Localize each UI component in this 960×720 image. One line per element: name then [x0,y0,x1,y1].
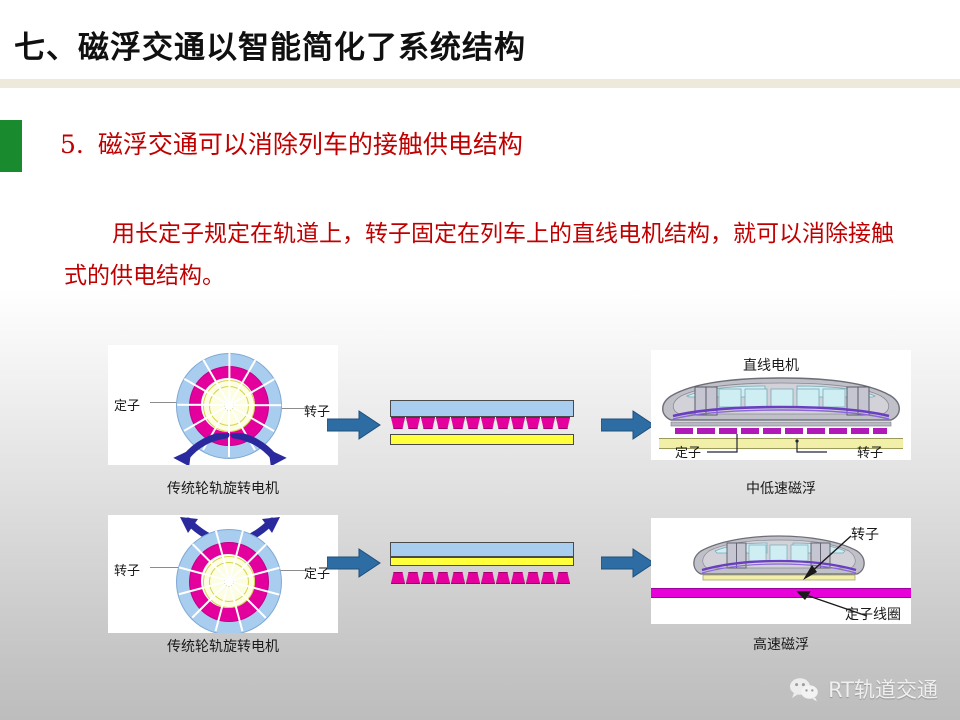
magnet-tooth [466,417,480,429]
magnet-tooth [556,572,570,584]
magnet-tooth [391,417,405,429]
label-stator: 定子 [675,442,701,460]
caption-row1-train: 中低速磁浮 [651,478,911,498]
rotor-plate-bar [390,434,574,445]
magnet-tooth [511,417,525,429]
slot-divider [229,404,281,406]
label-stator-coil: 定子线圈 [845,604,901,624]
magnet-tooth [541,417,555,429]
rotary-motor-panel-2: 转子 定子 [108,515,338,633]
magnet-tooth [511,572,525,584]
figure-row2-linear [390,542,574,588]
magnet-tooth [556,417,570,429]
magnet-tooth [436,572,450,584]
magnet-tooth [436,417,450,429]
header-divider [0,79,960,88]
watermark: RT轨道交通 [789,674,938,704]
magnet-tooth [451,572,465,584]
label-rotor: 转子 [851,524,879,544]
magnet-tooth [451,417,465,429]
section-accent-bar [0,120,22,172]
label-linear-motor: 直线电机 [743,355,799,375]
magnet-tooth [496,417,510,429]
slot-divider [228,353,230,405]
rotor-plate-bar [390,557,574,566]
maglev-train-panel-2: 转子 定子线圈 [651,518,911,624]
slide-root: 七、磁浮交通以智能简化了系统结构 5.磁浮交通可以消除列车的接触供电结构 用长定… [0,0,960,720]
magnet-tooth [496,572,510,584]
caption-row2-train: 高速磁浮 [651,634,911,654]
label-rotor: 转子 [857,442,883,460]
flow-arrow-icon [327,548,381,578]
magnet-tooth [541,572,555,584]
rotor-core-bar [390,542,574,557]
label-rotor-left: 转子 [114,560,140,579]
label-stator-left: 定子 [114,395,140,414]
rotary-motor-panel-1: 定子 转子 [108,345,338,465]
magnet-tooth [406,417,420,429]
magnet-tooth [391,572,405,584]
figure-row1-linear [390,400,574,446]
magnet-tooth [406,572,420,584]
flow-arrow-icon [327,410,381,440]
section-subheading: 5.磁浮交通可以消除列车的接触供电结构 [60,125,523,161]
caption-row2-rotary: 传统轮轨旋转电机 [108,636,338,656]
magnet-tooth [421,417,435,429]
magnet-tooth [481,572,495,584]
magnet-tooth [526,417,540,429]
figure-row2-train: 转子 定子线圈 [651,518,911,624]
magnet-tooth [466,572,480,584]
train-side-view-icon [657,376,905,430]
magnet-tooth [526,572,540,584]
flow-arrow-icon [601,410,655,440]
stator-core-bar [390,400,574,417]
magnet-tooth [481,417,495,429]
figure-row2-rotary: 转子 定子 [108,515,338,633]
slot-divider [177,404,229,406]
magnet-tooth [421,572,435,584]
subheading-number: 5. [60,130,84,159]
subheading-text: 磁浮交通可以消除列车的接触供电结构 [98,130,523,159]
flow-arrow-icon [601,548,655,578]
page-title: 七、磁浮交通以智能简化了系统结构 [14,22,526,67]
figure-row1-train: 直线电机 [651,350,911,460]
rotary-motor-graphic [176,529,280,633]
caption-row1-rotary: 传统轮轨旋转电机 [108,478,338,498]
watermark-text: RT轨道交通 [828,674,938,704]
wechat-icon [789,677,819,702]
rotation-arrows-icon [166,433,294,465]
maglev-train-panel-1: 直线电机 [651,350,911,460]
body-paragraph: 用长定子规定在轨道上，转子固定在列车上的直线电机结构，就可以消除接触式的供电结构… [64,213,904,297]
figure-row1-rotary: 定子 转子 [108,345,338,465]
